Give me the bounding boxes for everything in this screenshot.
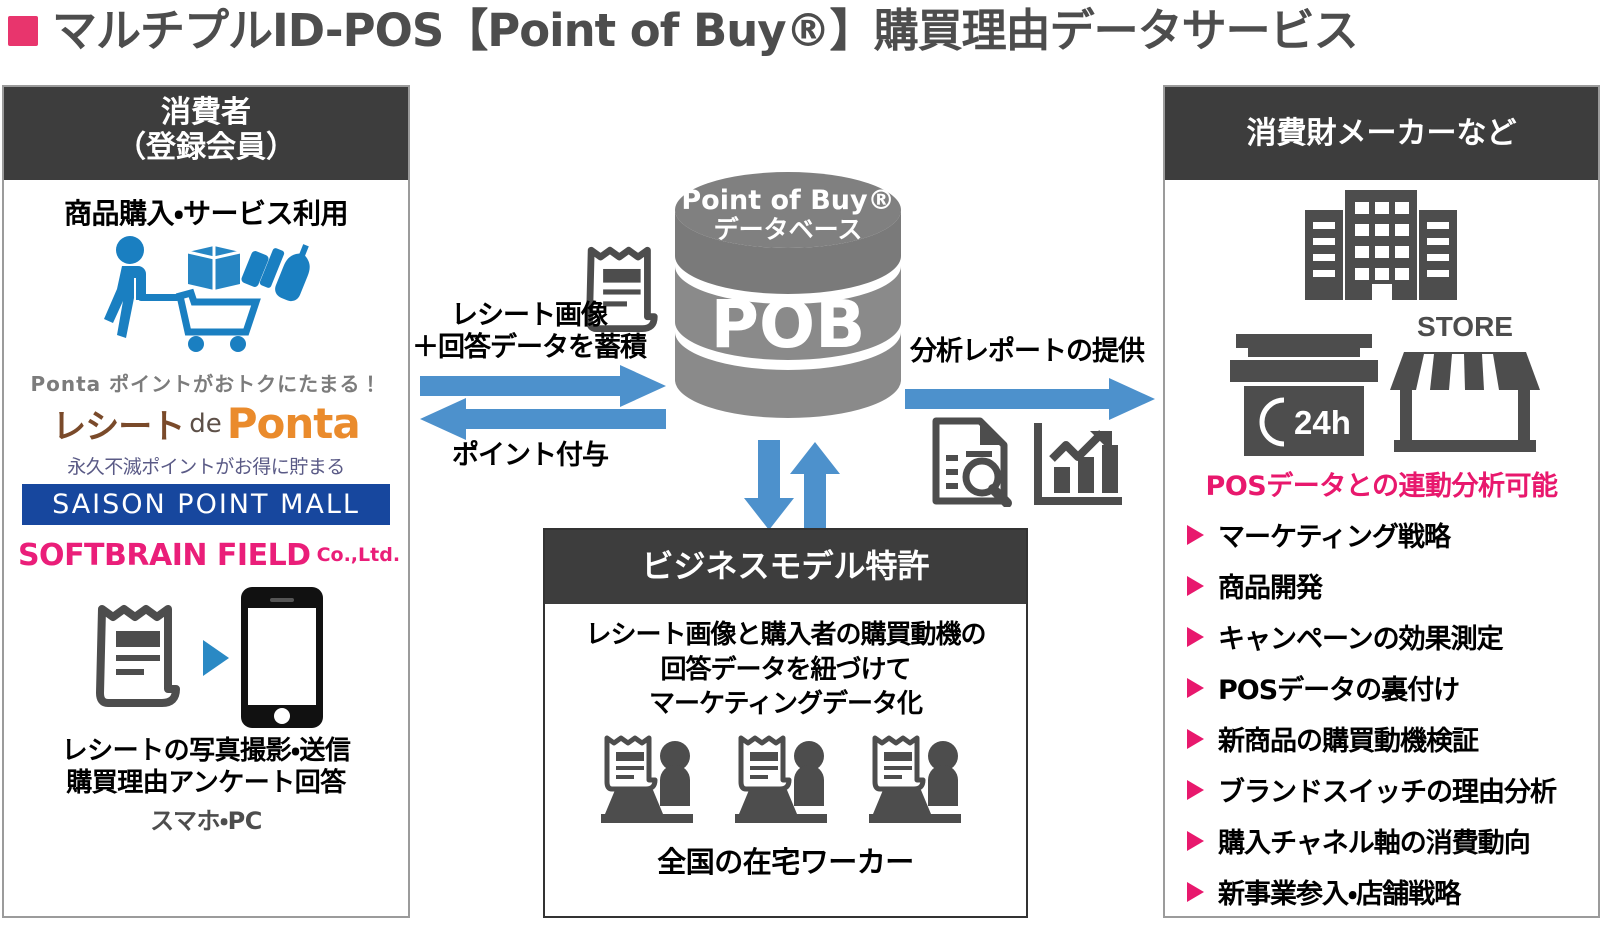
- patent-line2: 回答データを紐づけて: [545, 653, 1026, 688]
- office-buildings-icon: [1287, 184, 1477, 304]
- maker-panel: 消費財メーカーなど: [1163, 85, 1600, 918]
- photo-send-line2: 購買理由アンケート回答: [12, 768, 400, 800]
- receipt-de-ponta-de: de: [189, 409, 222, 439]
- list-item-label: 商品開発: [1218, 566, 1322, 605]
- bullet-triangle-icon: [1187, 882, 1204, 902]
- report-arrow-label: 分析レポートの提供: [910, 336, 1144, 368]
- receipt-to-phone-group: [12, 585, 400, 730]
- maker-buildings-group: [1165, 184, 1598, 304]
- consumer-header-line1: 消費者: [4, 95, 408, 130]
- receipt-icon: [88, 593, 193, 723]
- store-24h-label: 24h: [1294, 404, 1351, 441]
- saison-tagline: 永久不滅ポイントがお得に貯まる: [12, 452, 400, 479]
- patent-line1: レシート画像と購入者の購買動機の: [545, 618, 1026, 653]
- list-item: 商品開発: [1187, 560, 1598, 611]
- store-label: STORE: [1417, 311, 1513, 342]
- points-grant-label: ポイント付与: [452, 440, 608, 472]
- title-label: マルチプルID-POS【Point of Buy®】購買理由データサービス: [52, 8, 1358, 53]
- play-triangle-icon: [199, 636, 233, 680]
- home-worker-icon: [597, 732, 707, 827]
- saison-point-mall-logo: SAISON POINT MALL: [22, 484, 390, 525]
- title-bullet-square-icon: [8, 16, 38, 46]
- device-label: スマホ・PC: [12, 801, 400, 836]
- maker-panel-header: 消費財メーカーなど: [1165, 87, 1598, 180]
- list-item-label: キャンペーンの効果測定: [1218, 617, 1503, 656]
- arrow-points-back: [420, 398, 666, 440]
- home-worker-icon: [865, 732, 975, 827]
- patent-panel-header: ビジネスモデル特許: [545, 530, 1026, 604]
- patent-description: レシート画像と購入者の購買動機の 回答データを紐づけて マーケティングデータ化: [545, 618, 1026, 722]
- photo-send-line1: レシートの写真撮影・送信: [12, 736, 400, 768]
- list-item: 新事業参入・店舗戦略: [1187, 866, 1598, 917]
- store-shop-icon: STORE: [1390, 310, 1540, 460]
- list-item-label: POSデータの裏付け: [1218, 668, 1459, 707]
- list-item-label: ブランドスイッチの理由分析: [1218, 770, 1556, 809]
- ponta-tagline: Ponta ポイントがおトクにたまる！: [12, 368, 400, 397]
- consumer-panel: 消費者 （登録会員） 商品購入・サービス利用: [2, 85, 410, 918]
- bullet-triangle-icon: [1187, 576, 1204, 596]
- report-icons-group: [930, 415, 1126, 507]
- bullet-triangle-icon: [1187, 525, 1204, 545]
- bullet-triangle-icon: [1187, 780, 1204, 800]
- photo-send-label: レシートの写真撮影・送信 購買理由アンケート回答: [12, 736, 400, 799]
- list-item: POSデータの裏付け: [1187, 662, 1598, 713]
- document-search-icon: [930, 415, 1018, 507]
- list-item-label: マーケティング戦略: [1218, 515, 1450, 554]
- benefit-list: マーケティング戦略 商品開発 キャンペーンの効果測定 POSデータの裏付け 新商…: [1165, 509, 1598, 917]
- softbrain-name: SOFTBRAIN FIELD: [18, 538, 311, 573]
- pos-linkage-note: POSデータとの連動分析可能: [1165, 464, 1598, 503]
- shopper-with-cart-icon: [12, 234, 400, 364]
- list-item: マーケティング戦略: [1187, 509, 1598, 560]
- pob-database-icon: Point of Buy® データベース POB: [673, 170, 903, 425]
- bullet-triangle-icon: [1187, 678, 1204, 698]
- receipt-de-ponta-logo: レシートdePonta: [12, 399, 400, 448]
- purchase-label: 商品購入・サービス利用: [12, 192, 400, 232]
- list-item-label: 購入チャネル軸の消費動向: [1218, 821, 1530, 860]
- list-item-label: 新商品の購買動機検証: [1218, 719, 1478, 758]
- convenience-store-24h-icon: 24h: [1224, 328, 1384, 460]
- home-worker-icon: [731, 732, 841, 827]
- receipt-de-ponta-brand: Ponta: [227, 399, 360, 448]
- patent-panel: ビジネスモデル特許 レシート画像と購入者の購買動機の 回答データを紐づけて マー…: [543, 528, 1028, 918]
- list-item: 購入チャネル軸の消費動向: [1187, 815, 1598, 866]
- softbrain-suffix: Co.,Ltd.: [317, 544, 400, 566]
- smartphone-icon: [239, 585, 325, 730]
- list-item: キャンペーンの効果測定: [1187, 611, 1598, 662]
- inbound-label-line1: レシート画像: [412, 300, 646, 332]
- page-title: マルチプルID-POS【Point of Buy®】購買理由データサービス: [8, 8, 1358, 53]
- softbrain-field-logo: SOFTBRAIN FIELD Co.,Ltd.: [12, 533, 400, 577]
- maker-stores-group: 24h STORE: [1165, 310, 1598, 460]
- diagram-canvas: マルチプルID-POS【Point of Buy®】購買理由データサービス 消費…: [0, 0, 1608, 942]
- list-item: ブランドスイッチの理由分析: [1187, 764, 1598, 815]
- bullet-triangle-icon: [1187, 627, 1204, 647]
- bullet-triangle-icon: [1187, 831, 1204, 851]
- arrows-database-patent: [742, 440, 842, 532]
- home-workers-label: 全国の在宅ワーカー: [545, 839, 1026, 881]
- consumer-panel-header: 消費者 （登録会員）: [4, 87, 408, 180]
- arrow-to-maker: [905, 378, 1155, 420]
- home-workers-group: [545, 732, 1026, 827]
- bar-chart-growth-icon: [1032, 419, 1126, 507]
- patent-line3: マーケティングデータ化: [545, 687, 1026, 722]
- bullet-triangle-icon: [1187, 729, 1204, 749]
- consumer-header-line2: （登録会員）: [4, 130, 408, 165]
- inbound-arrow-label: レシート画像 ＋回答データを蓄積: [412, 300, 646, 365]
- receipt-de-ponta-ja: レシート: [52, 407, 184, 447]
- pob-label: POB: [673, 292, 903, 358]
- list-item: 新商品の購買動機検証: [1187, 713, 1598, 764]
- inbound-label-line2: ＋回答データを蓄積: [412, 332, 646, 364]
- list-item-label: 新事業参入・店舗戦略: [1218, 872, 1460, 911]
